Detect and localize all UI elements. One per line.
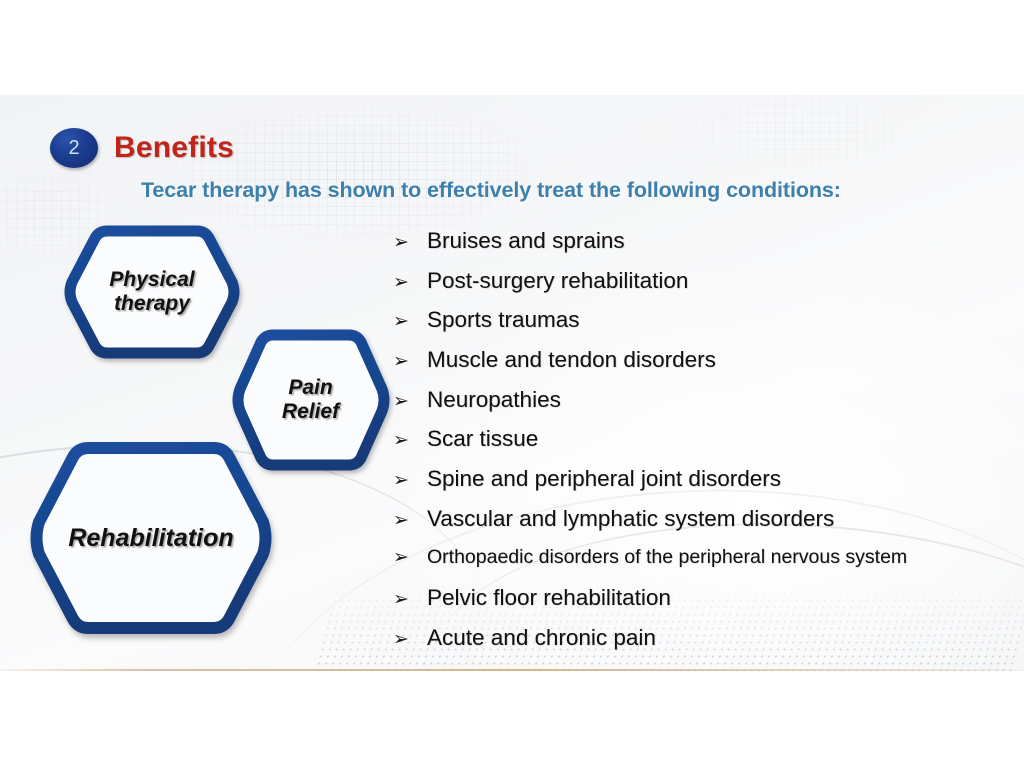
list-item-label: Acute and chronic pain — [427, 625, 656, 651]
list-item-label: Neuropathies — [427, 387, 561, 413]
list-item: ➢Acute and chronic pain — [393, 625, 1013, 665]
arrow-bullet-icon: ➢ — [393, 511, 427, 530]
list-item-label: Spine and peripheral joint disorders — [427, 466, 781, 492]
arrow-bullet-icon: ➢ — [393, 273, 427, 292]
list-item-label: Scar tissue — [427, 426, 538, 452]
list-item: ➢Spine and peripheral joint disorders — [393, 466, 1013, 506]
list-item: ➢Sports traumas — [393, 307, 1013, 347]
list-item-label: Post-surgery rehabilitation — [427, 268, 688, 294]
list-item: ➢Scar tissue — [393, 426, 1013, 466]
arrow-bullet-icon: ➢ — [393, 352, 427, 371]
arrow-bullet-icon: ➢ — [393, 233, 427, 252]
slide-subtitle: Tecar therapy has shown to effectively t… — [141, 178, 841, 203]
slide-number-badge: 2 — [50, 128, 98, 168]
arrow-bullet-icon: ➢ — [393, 630, 427, 649]
list-item-label: Vascular and lymphatic system disorders — [427, 506, 834, 532]
list-item-label: Muscle and tendon disorders — [427, 347, 716, 373]
list-item-label: Pelvic floor rehabilitation — [427, 585, 671, 611]
arrow-bullet-icon: ➢ — [393, 312, 427, 331]
list-item: ➢Orthopaedic disorders of the peripheral… — [393, 546, 1013, 586]
arrow-bullet-icon: ➢ — [393, 548, 427, 567]
arrow-bullet-icon: ➢ — [393, 431, 427, 450]
hexagon-rehabilitation[interactable]: Rehabilitation — [22, 438, 280, 638]
conditions-list: ➢Bruises and sprains➢Post-surgery rehabi… — [393, 228, 1013, 665]
arrow-bullet-icon: ➢ — [393, 590, 427, 609]
list-item: ➢Neuropathies — [393, 387, 1013, 427]
list-item: ➢Muscle and tendon disorders — [393, 347, 1013, 387]
list-item: ➢Post-surgery rehabilitation — [393, 268, 1013, 308]
hexagon-physical-therapy[interactable]: Physical therapy — [62, 222, 242, 362]
list-item-label: Bruises and sprains — [427, 228, 625, 254]
page-title: Benefits — [114, 131, 234, 165]
arrow-bullet-icon: ➢ — [393, 471, 427, 490]
list-item: ➢Vascular and lymphatic system disorders — [393, 506, 1013, 546]
arrow-bullet-icon: ➢ — [393, 392, 427, 411]
list-item-label: Sports traumas — [427, 307, 580, 333]
bottom-rule-divider — [0, 669, 1024, 671]
list-item: ➢Pelvic floor rehabilitation — [393, 585, 1013, 625]
list-item: ➢Bruises and sprains — [393, 228, 1013, 268]
list-item-label: Orthopaedic disorders of the peripheral … — [427, 546, 907, 569]
